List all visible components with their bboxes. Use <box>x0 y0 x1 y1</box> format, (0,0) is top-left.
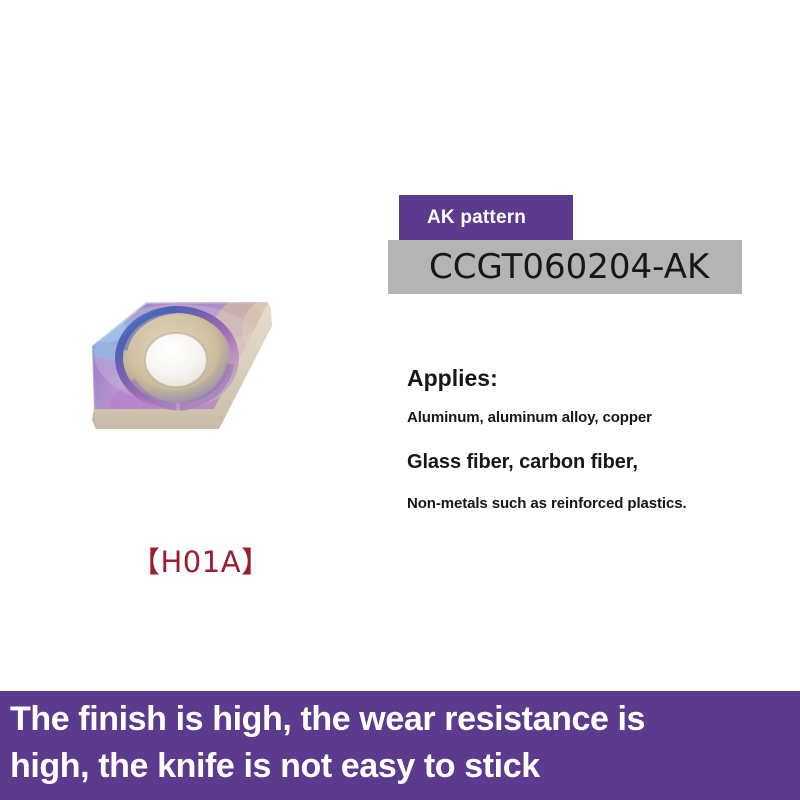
spacer <box>407 476 757 493</box>
benefit-text: The finish is high, the wear resistance … <box>10 696 792 790</box>
ak-pattern-tag: AK pattern <box>399 195 573 241</box>
applies-line-materials: Aluminum, aluminum alloy, copper <box>407 407 757 429</box>
applies-heading: Applies: <box>407 363 757 393</box>
applies-block: Applies: Aluminum, aluminum alloy, coppe… <box>407 363 757 515</box>
applies-line-nonmetals: Non-metals such as reinforced plastics. <box>407 493 757 515</box>
spacer <box>407 429 757 448</box>
carbide-insert-icon <box>72 288 287 473</box>
ak-pattern-tag-label: AK pattern <box>427 207 526 229</box>
benefit-line-2: high, the knife is not easy to stick <box>10 743 792 790</box>
model-number-bar: CCGT060204-AK <box>388 240 742 294</box>
applies-line-fibers: Glass fiber, carbon fiber, <box>407 448 757 476</box>
grade-label: 【H01A】 <box>131 548 271 577</box>
insert-illustration <box>72 288 287 473</box>
benefit-line-1: The finish is high, the wear resistance … <box>10 696 792 743</box>
product-image <box>72 288 287 473</box>
product-info-card: 【H01A】 AK pattern CCGT060204-AK Applies:… <box>0 0 800 800</box>
insert-countersink <box>115 306 239 410</box>
model-number: CCGT060204-AK <box>429 245 709 289</box>
benefit-banner: The finish is high, the wear resistance … <box>0 691 800 800</box>
